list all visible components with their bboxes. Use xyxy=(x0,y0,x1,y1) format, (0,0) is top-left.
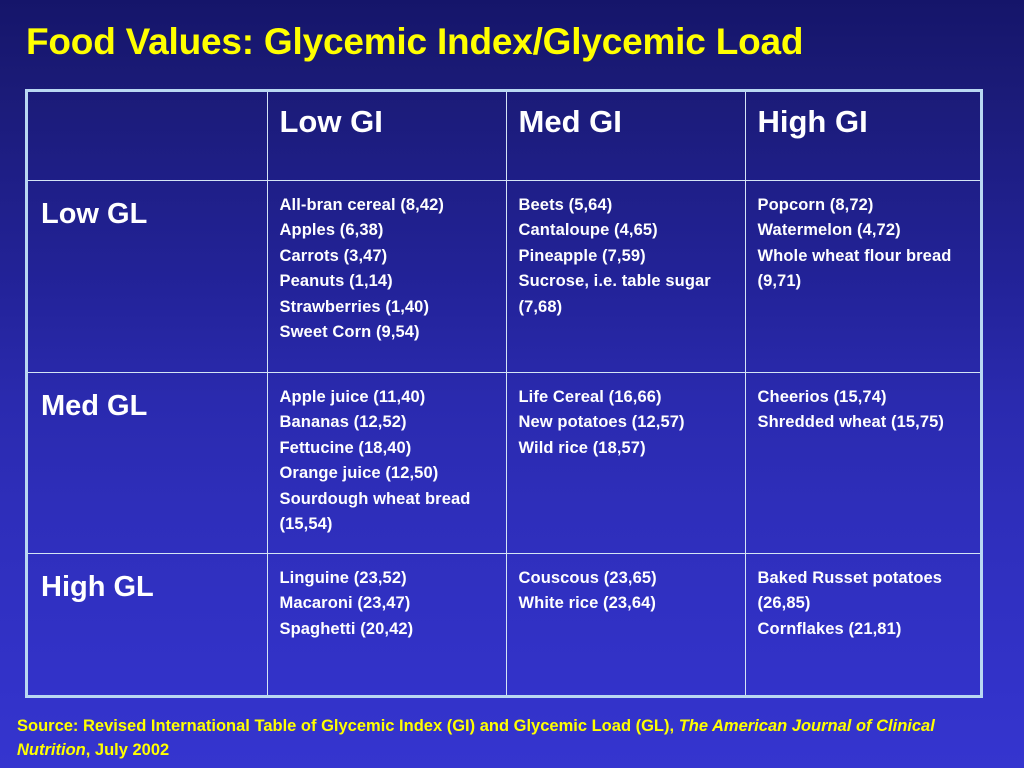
food-list: All-bran cereal (8,42)Apples (6,38)Carro… xyxy=(268,181,506,346)
cell-low-gl-low-gi: All-bran cereal (8,42)Apples (6,38)Carro… xyxy=(267,180,506,372)
food-item: Bananas (12,52) xyxy=(280,410,498,436)
food-item: Peanuts (1,14) xyxy=(280,269,498,295)
food-item: Carrots (3,47) xyxy=(280,244,498,270)
column-header-label: Med GI xyxy=(507,92,745,140)
slide-root: Food Values: Glycemic Index/Glycemic Loa… xyxy=(0,0,1024,768)
food-item: Spaghetti (20,42) xyxy=(280,617,498,643)
food-item: Couscous (23,65) xyxy=(519,566,737,592)
food-list: Linguine (23,52)Macaroni (23,47)Spaghett… xyxy=(268,554,506,643)
cell-low-gl-med-gi: Beets (5,64)Cantaloupe (4,65)Pineapple (… xyxy=(506,180,745,372)
column-header-label: Low GI xyxy=(268,92,506,140)
food-item: Wild rice (18,57) xyxy=(519,436,737,462)
cell-high-gl-low-gi: Linguine (23,52)Macaroni (23,47)Spaghett… xyxy=(267,553,506,695)
food-item: Fettucine (18,40) xyxy=(280,436,498,462)
food-item: Strawberries (1,40) xyxy=(280,295,498,321)
column-header-low-gi: Low GI xyxy=(267,92,506,180)
source-citation: Source: Revised International Table of G… xyxy=(17,714,1007,762)
food-list: Apple juice (11,40)Bananas (12,52)Fettuc… xyxy=(268,373,506,538)
food-list: Life Cereal (16,66)New potatoes (12,57)W… xyxy=(507,373,745,462)
cell-med-gl-low-gi: Apple juice (11,40)Bananas (12,52)Fettuc… xyxy=(267,372,506,553)
food-item: Orange juice (12,50) xyxy=(280,461,498,487)
food-item: Cornflakes (21,81) xyxy=(758,617,973,643)
cell-high-gl-med-gi: Couscous (23,65)White rice (23,64) xyxy=(506,553,745,695)
table-row: High GL Linguine (23,52)Macaroni (23,47)… xyxy=(28,553,980,695)
food-item: White rice (23,64) xyxy=(519,591,737,617)
food-item: Macaroni (23,47) xyxy=(280,591,498,617)
cell-high-gl-high-gi: Baked Russet potatoes (26,85)Cornflakes … xyxy=(745,553,980,695)
source-prefix: Source: Revised International Table of G… xyxy=(17,717,679,735)
cell-low-gl-high-gi: Popcorn (8,72)Watermelon (4,72)Whole whe… xyxy=(745,180,980,372)
row-header-low-gl: Low GL xyxy=(28,180,267,372)
page-title: Food Values: Glycemic Index/Glycemic Loa… xyxy=(26,20,1006,64)
food-item: Apples (6,38) xyxy=(280,218,498,244)
row-header-label: High GL xyxy=(28,554,267,604)
food-item: Beets (5,64) xyxy=(519,193,737,219)
food-values-table: Low GI Med GI High GI Low GL All-bran ce… xyxy=(25,89,983,698)
cell-med-gl-med-gi: Life Cereal (16,66)New potatoes (12,57)W… xyxy=(506,372,745,553)
column-header-med-gi: Med GI xyxy=(506,92,745,180)
food-list: Baked Russet potatoes (26,85)Cornflakes … xyxy=(746,554,981,643)
table-grid: Low GI Med GI High GI Low GL All-bran ce… xyxy=(28,92,980,695)
food-list: Beets (5,64)Cantaloupe (4,65)Pineapple (… xyxy=(507,181,745,321)
food-item: Sourdough wheat bread (15,54) xyxy=(280,487,498,538)
food-item: Sweet Corn (9,54) xyxy=(280,320,498,346)
table-header-row: Low GI Med GI High GI xyxy=(28,92,980,180)
food-item: All-bran cereal (8,42) xyxy=(280,193,498,219)
food-item: Cheerios (15,74) xyxy=(758,385,973,411)
food-item: New potatoes (12,57) xyxy=(519,410,737,436)
table-row: Med GL Apple juice (11,40)Bananas (12,52… xyxy=(28,372,980,553)
food-item: Whole wheat flour bread (9,71) xyxy=(758,244,973,295)
food-item: Shredded wheat (15,75) xyxy=(758,410,973,436)
row-header-high-gl: High GL xyxy=(28,553,267,695)
food-item: Linguine (23,52) xyxy=(280,566,498,592)
food-list: Popcorn (8,72)Watermelon (4,72)Whole whe… xyxy=(746,181,981,295)
food-item: Life Cereal (16,66) xyxy=(519,385,737,411)
source-suffix: , July 2002 xyxy=(86,741,169,759)
food-item: Sucrose, i.e. table sugar (7,68) xyxy=(519,269,737,320)
table-row: Low GL All-bran cereal (8,42)Apples (6,3… xyxy=(28,180,980,372)
corner-header-label xyxy=(28,92,267,104)
row-header-med-gl: Med GL xyxy=(28,372,267,553)
food-item: Baked Russet potatoes (26,85) xyxy=(758,566,973,617)
row-header-label: Low GL xyxy=(28,181,267,231)
food-item: Apple juice (11,40) xyxy=(280,385,498,411)
food-item: Cantaloupe (4,65) xyxy=(519,218,737,244)
cell-med-gl-high-gi: Cheerios (15,74)Shredded wheat (15,75) xyxy=(745,372,980,553)
food-list: Couscous (23,65)White rice (23,64) xyxy=(507,554,745,617)
row-header-label: Med GL xyxy=(28,373,267,423)
table-corner-cell xyxy=(28,92,267,180)
column-header-high-gi: High GI xyxy=(745,92,980,180)
column-header-label: High GI xyxy=(746,92,981,140)
food-item: Popcorn (8,72) xyxy=(758,193,973,219)
food-list: Cheerios (15,74)Shredded wheat (15,75) xyxy=(746,373,981,436)
food-item: Pineapple (7,59) xyxy=(519,244,737,270)
food-item: Watermelon (4,72) xyxy=(758,218,973,244)
